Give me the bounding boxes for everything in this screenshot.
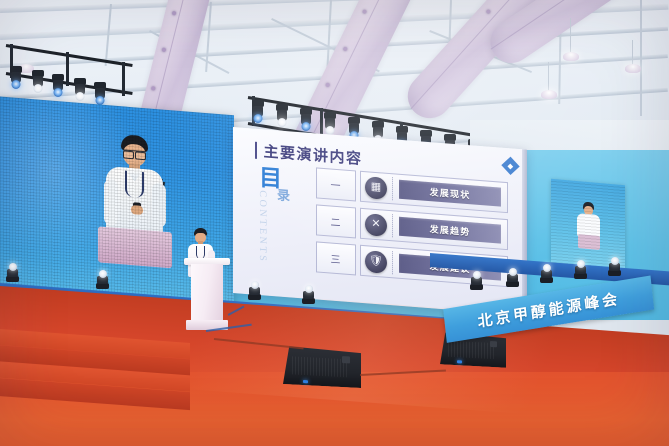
screen-speaker-image-small bbox=[575, 201, 601, 251]
highbay-lamp-icon bbox=[563, 52, 579, 61]
contents-char-2: 录 bbox=[277, 184, 290, 204]
lamp-rod bbox=[632, 40, 633, 66]
tools-icon-glyph: ✕ bbox=[371, 219, 380, 231]
agenda-number: 二 bbox=[316, 204, 356, 238]
agenda-number: 三 bbox=[316, 241, 356, 275]
calendar-icon: ▦ bbox=[365, 176, 387, 200]
led-screen-right bbox=[551, 179, 625, 269]
agenda-item: ▦ 发展现状 bbox=[360, 171, 508, 213]
conference-stage-photo: 主要演讲内容 ◆ 目 录 CONTENTS 一 ▦ 发展现状 bbox=[0, 0, 669, 446]
agenda-label: 发展趋势 bbox=[430, 222, 471, 238]
contents-watermark: CONTENTS bbox=[257, 190, 268, 264]
agenda-number: 一 bbox=[316, 167, 356, 201]
perforation-divider bbox=[392, 251, 393, 274]
agenda-bar: 发展趋势 bbox=[399, 217, 501, 244]
lamp-rod bbox=[570, 18, 571, 52]
truss-post bbox=[66, 52, 69, 86]
calendar-icon-glyph: ▦ bbox=[371, 182, 381, 194]
agenda-item: ✕ 发展趋势 bbox=[360, 208, 508, 250]
perforation-divider bbox=[392, 177, 393, 200]
truss-post bbox=[122, 62, 125, 96]
brand-logo-glyph: ◆ bbox=[508, 162, 513, 170]
stage-monitor-speaker bbox=[283, 346, 361, 388]
title-tick-icon bbox=[255, 142, 257, 159]
shield-icon-glyph: 🛡 bbox=[369, 255, 383, 267]
slide-edge bbox=[522, 149, 527, 315]
perforation-divider bbox=[392, 214, 393, 237]
stage-steps bbox=[0, 330, 240, 440]
highbay-lamp-icon bbox=[625, 64, 641, 73]
agenda-bar: 发展现状 bbox=[399, 180, 501, 207]
contents-heading: 目 录 CONTENTS bbox=[251, 165, 313, 282]
agenda-label: 发展现状 bbox=[430, 185, 471, 201]
highbay-lamp-icon bbox=[541, 90, 557, 99]
screen-speaker-image bbox=[98, 132, 170, 268]
tools-icon: ✕ bbox=[365, 213, 387, 237]
lamp-rod bbox=[548, 62, 549, 92]
ceiling-strut bbox=[640, 0, 642, 116]
podium bbox=[186, 258, 228, 336]
brand-logo-icon: ◆ bbox=[501, 157, 519, 175]
shield-icon: 🛡 bbox=[365, 250, 387, 274]
